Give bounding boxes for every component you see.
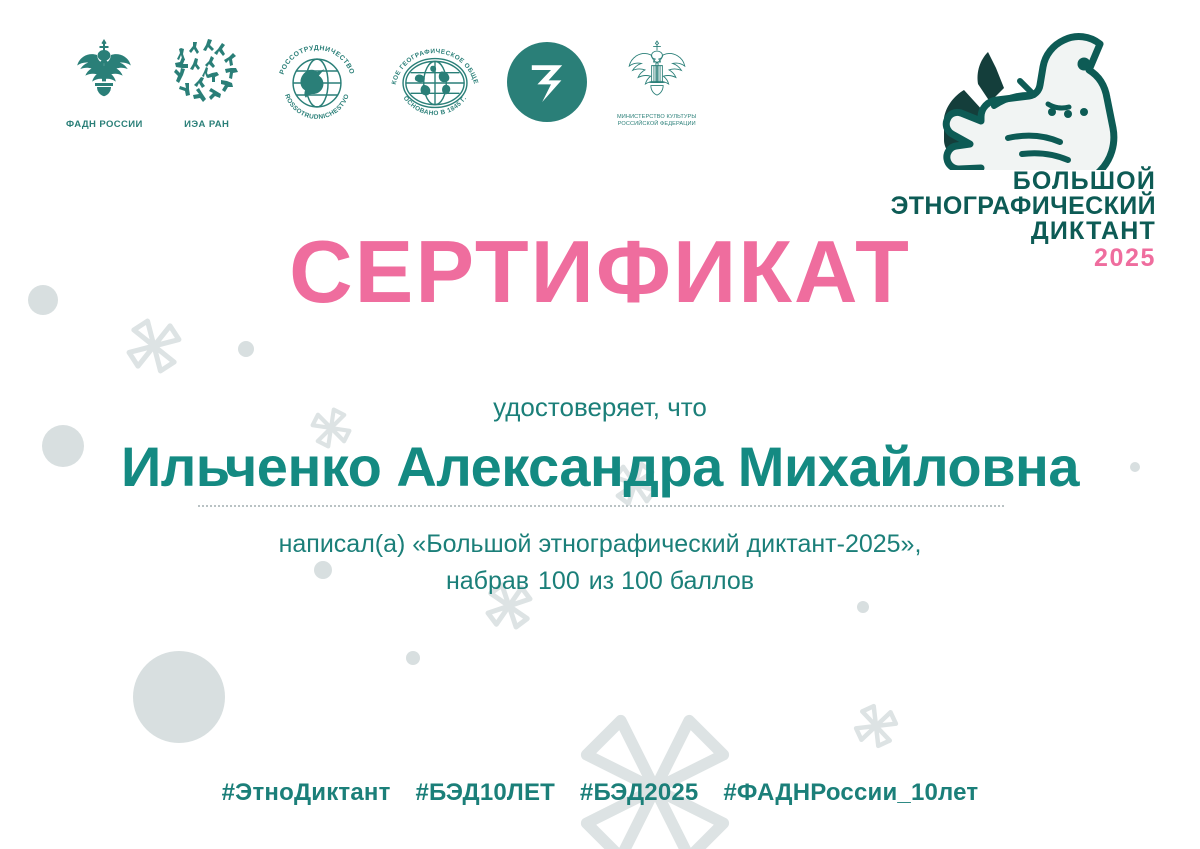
partner-logo-fadn: ФАДН РОССИИ — [66, 36, 143, 131]
partner-logos-row: ФАДН РОССИИ — [66, 36, 705, 140]
statement-middle: из 100 баллов — [589, 567, 754, 595]
event-logo-line-2: ЭТНОГРАФИЧЕСКИЙ — [884, 194, 1156, 219]
hashtag: #БЭД2025 — [580, 779, 699, 806]
event-logo-text: БОЛЬШОЙ ЭТНОГРАФИЧЕСКИЙ ДИКТАНТ 2025 — [884, 169, 1162, 271]
rossotrudnichestvo-globe-dove-icon: РОССОТРУДНИЧЕСТВО ROSSOTRUDNICHESTVO — [271, 36, 363, 135]
certifies-label: удостоверяет, что — [0, 392, 1200, 423]
statement-prefix: набрав — [446, 567, 529, 595]
partner-logo-iea-ran: ИЭА РАН — [165, 36, 249, 131]
partner-logo-rossotrudnichestvo: РОССОТРУДНИЧЕСТВО ROSSOTRUDNICHESTVO — [271, 36, 363, 140]
partner-logo-znanie — [507, 42, 587, 132]
znanie-z-icon — [507, 42, 587, 127]
hashtag: #БЭД10ЛЕТ — [415, 779, 555, 806]
hashtags-row: #ЭтноДиктант #БЭД10ЛЕТ #БЭД2025 #ФАДНРос… — [0, 779, 1200, 807]
svg-text:РУССКОЕ ГЕОГРАФИЧЕСКОЕ ОБЩЕСТВ: РУССКОЕ ГЕОГРАФИЧЕСКОЕ ОБЩЕСТВО — [385, 36, 479, 85]
score-value: 100 — [536, 567, 582, 595]
event-logo-line-3: ДИКТАНТ — [884, 219, 1156, 244]
name-underline-rule — [198, 505, 1004, 507]
statement-line-1: написал(а) «Большой этнографический дикт… — [0, 526, 1200, 563]
event-logo: БОЛЬШОЙ ЭТНОГРАФИЧЕСКИЙ ДИКТАНТ 2025 — [884, 22, 1162, 271]
russian-geographical-society-globe-icon: РУССКОЕ ГЕОГРАФИЧЕСКОЕ ОБЩЕСТВО ОСНОВАНО… — [385, 36, 485, 135]
hashtag: #ЭтноДиктант — [222, 779, 391, 806]
event-logo-year: 2025 — [884, 246, 1156, 271]
ministry-of-culture-eagle-icon — [609, 38, 705, 109]
partner-logo-ministry-of-culture: МИНИСТЕРСТВО КУЛЬТУРЫ РОССИЙСКОЙ ФЕДЕРАЦ… — [609, 38, 705, 128]
certificate-document: ФАДН РОССИИ — [0, 0, 1200, 849]
partner-logo-caption: ФАДН РОССИИ — [66, 120, 143, 131]
recipient-name: Ильченко Александра Михайловна — [0, 434, 1200, 499]
hashtag: #ФАДНРоссии_10лет — [723, 779, 978, 806]
statement-line-2: набрав 100 из 100 баллов — [0, 563, 1200, 600]
fadn-eagle-icon — [71, 36, 137, 115]
statement-block: написал(а) «Большой этнографический дикт… — [0, 526, 1200, 600]
partner-logo-rgo: РУССКОЕ ГЕОГРАФИЧЕСКОЕ ОБЩЕСТВО ОСНОВАНО… — [385, 36, 485, 140]
partner-logo-caption: МИНИСТЕРСТВО КУЛЬТУРЫ РОССИЙСКОЙ ФЕДЕРАЦ… — [617, 114, 696, 128]
dove-icon — [902, 22, 1162, 175]
iea-ran-people-circle-icon — [165, 36, 249, 115]
partner-logo-caption: ИЭА РАН — [184, 120, 229, 131]
